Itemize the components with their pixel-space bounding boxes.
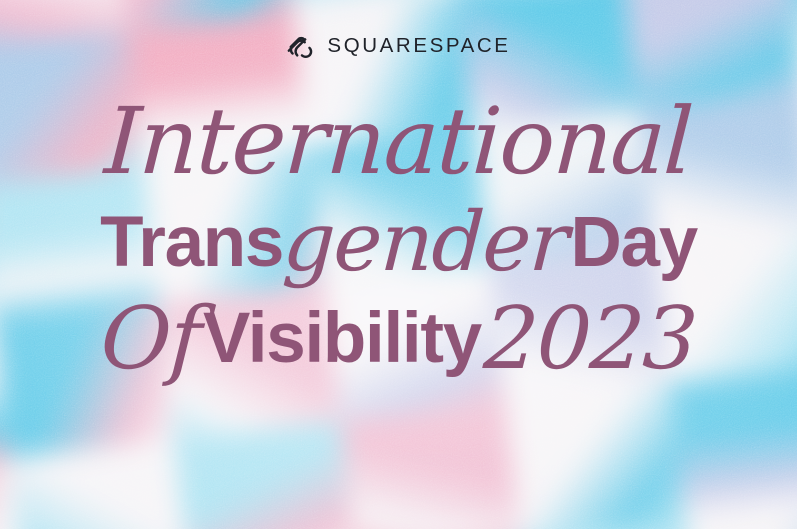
poster-canvas: SQUARESPACE International TransgenderDay… (0, 0, 797, 529)
headline-word-trans: Trans (100, 203, 283, 282)
headline-line-1: International (0, 96, 797, 200)
checkerboard-cell (339, 402, 520, 529)
squarespace-wordmark: SQUARESPACE (327, 36, 510, 57)
headline-line-3: OfVisibility2023 (0, 296, 797, 392)
headline-word-of: Of (99, 296, 202, 382)
headline: International TransgenderDay OfVisibilit… (0, 96, 797, 392)
squarespace-logo-lockup: SQUARESPACE (0, 31, 797, 61)
checkerboard-cell (505, 384, 686, 529)
headline-word-day: Day (571, 203, 697, 282)
headline-word-visibility: Visibility (203, 299, 481, 378)
squarespace-logo-icon (286, 31, 316, 61)
checkerboard-cell (174, 421, 355, 529)
headline-word-gender: gender (281, 202, 570, 284)
headline-line-2: TransgenderDay (0, 202, 797, 298)
headline-year-2023: 2023 (482, 296, 698, 382)
headline-word-international: International (103, 96, 694, 188)
